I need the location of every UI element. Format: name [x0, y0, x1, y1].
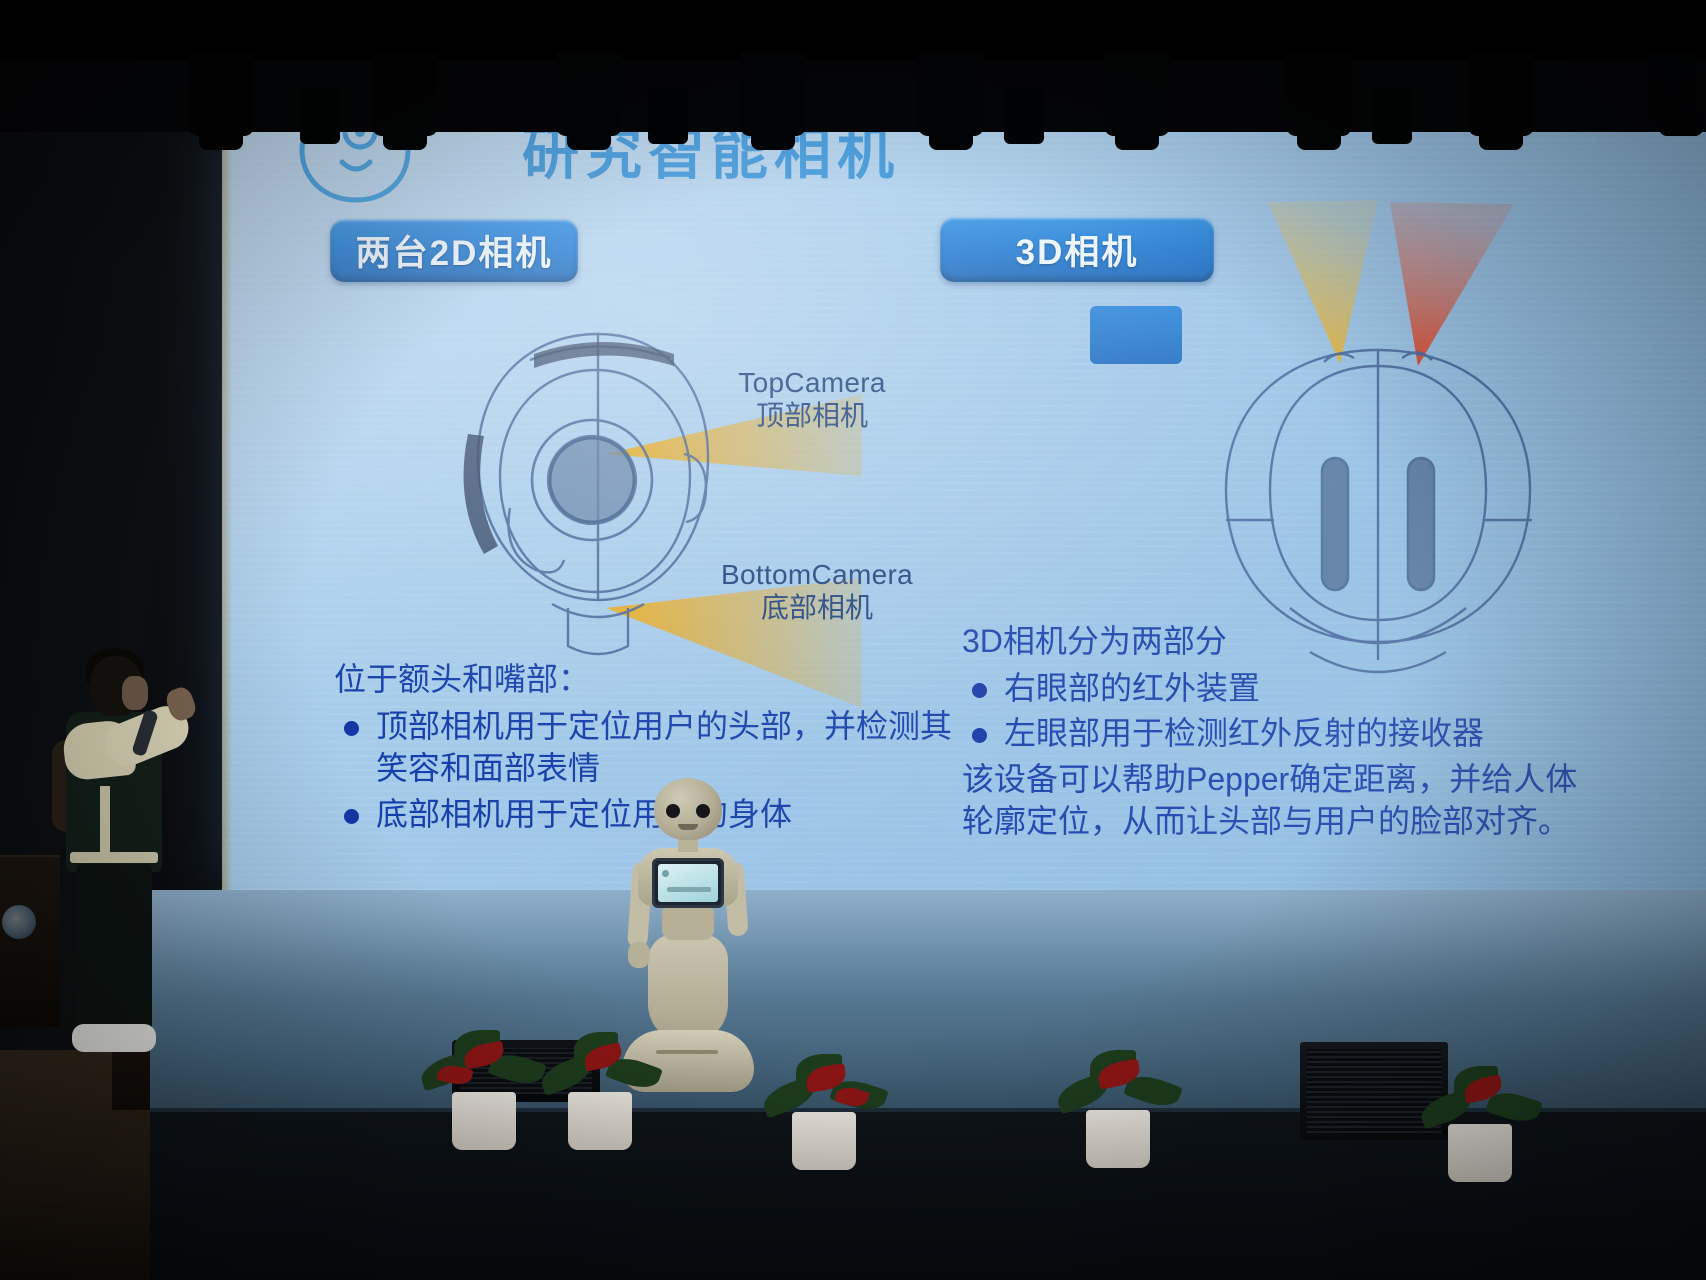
bottom-camera-label: BottomCamera 底部相机	[702, 558, 932, 624]
stage-light	[1468, 52, 1534, 136]
stage-light	[740, 52, 806, 136]
robot-tablet-text-line	[667, 887, 711, 892]
plant-pot	[568, 1092, 632, 1150]
list-item: 左眼部用于检测红外反射的接收器	[962, 712, 1602, 755]
left-lead-text: 位于额头和嘴部：	[334, 658, 954, 701]
robot-left-eye	[666, 804, 680, 818]
presenter-face	[122, 676, 148, 710]
presenter	[30, 640, 190, 1060]
presenter-shoes	[72, 1024, 156, 1052]
list-item: 顶部相机用于定位用户的头部，并检测其笑容和面部表情	[334, 705, 954, 790]
truss-drop	[1372, 88, 1412, 144]
right-paragraph: 该设备可以帮助Pepper确定距离，并给人体轮廓定位，从而让头部与用户的脸部对齐…	[962, 758, 1602, 843]
potted-plant	[744, 1020, 904, 1170]
right-text-block: 3D相机分为两部分 右眼部的红外装置 左眼部用于检测红外反射的接收器 该设备可以…	[962, 620, 1602, 843]
stage-light	[1286, 52, 1352, 136]
robot-mouth	[678, 824, 698, 830]
robot-head	[654, 778, 722, 840]
plant-pot	[452, 1092, 516, 1150]
potted-plant	[1400, 1032, 1560, 1182]
stage-light	[372, 52, 438, 136]
stage-photograph: 研究智能相机 两台2D相机 3D相机	[0, 0, 1706, 1280]
presenter-jacket-placket	[100, 786, 110, 852]
plant-pot	[1448, 1124, 1512, 1182]
stage-light	[1104, 52, 1170, 136]
potted-plant	[520, 1000, 680, 1150]
list-item: 右眼部的红外装置	[962, 667, 1602, 710]
top-camera-label-en: TopCamera	[702, 366, 922, 399]
badge-2d-cameras: 两台2D相机	[330, 219, 578, 282]
robot-left-hand	[628, 942, 650, 968]
slide: 研究智能相机 两台2D相机 3D相机	[222, 118, 1706, 890]
truss-drop	[1004, 88, 1044, 144]
robot-chest-tablet[interactable]	[652, 858, 724, 908]
truss-drop	[648, 88, 688, 144]
robot-waist	[662, 904, 714, 940]
stage-light	[918, 52, 984, 136]
ceiling-truss	[0, 0, 1706, 132]
truss-lip	[0, 0, 1706, 60]
right-bullet-list: 右眼部的红外装置 左眼部用于检测红外反射的接收器	[962, 667, 1602, 755]
plant-pot	[792, 1112, 856, 1170]
stage-light	[1648, 52, 1694, 122]
top-camera-label-zh: 顶部相机	[702, 399, 922, 432]
projection-screen: 研究智能相机 两台2D相机 3D相机	[222, 118, 1706, 890]
presenter-jacket-hem-stripe	[70, 852, 158, 863]
plant-pot	[1086, 1110, 1150, 1168]
robot-right-eye	[696, 804, 710, 818]
bottom-camera-label-zh: 底部相机	[702, 591, 932, 624]
presenter-legs	[76, 864, 152, 1040]
robot-tablet-app-icon	[662, 870, 669, 877]
stage-light	[556, 52, 622, 136]
right-lead-text: 3D相机分为两部分	[962, 620, 1602, 663]
truss-drop	[300, 88, 340, 144]
potted-plant	[1038, 1018, 1198, 1168]
bottom-camera-label-en: BottomCamera	[702, 558, 932, 591]
stage-light	[188, 52, 254, 136]
top-camera-label: TopCamera 顶部相机	[702, 366, 922, 432]
